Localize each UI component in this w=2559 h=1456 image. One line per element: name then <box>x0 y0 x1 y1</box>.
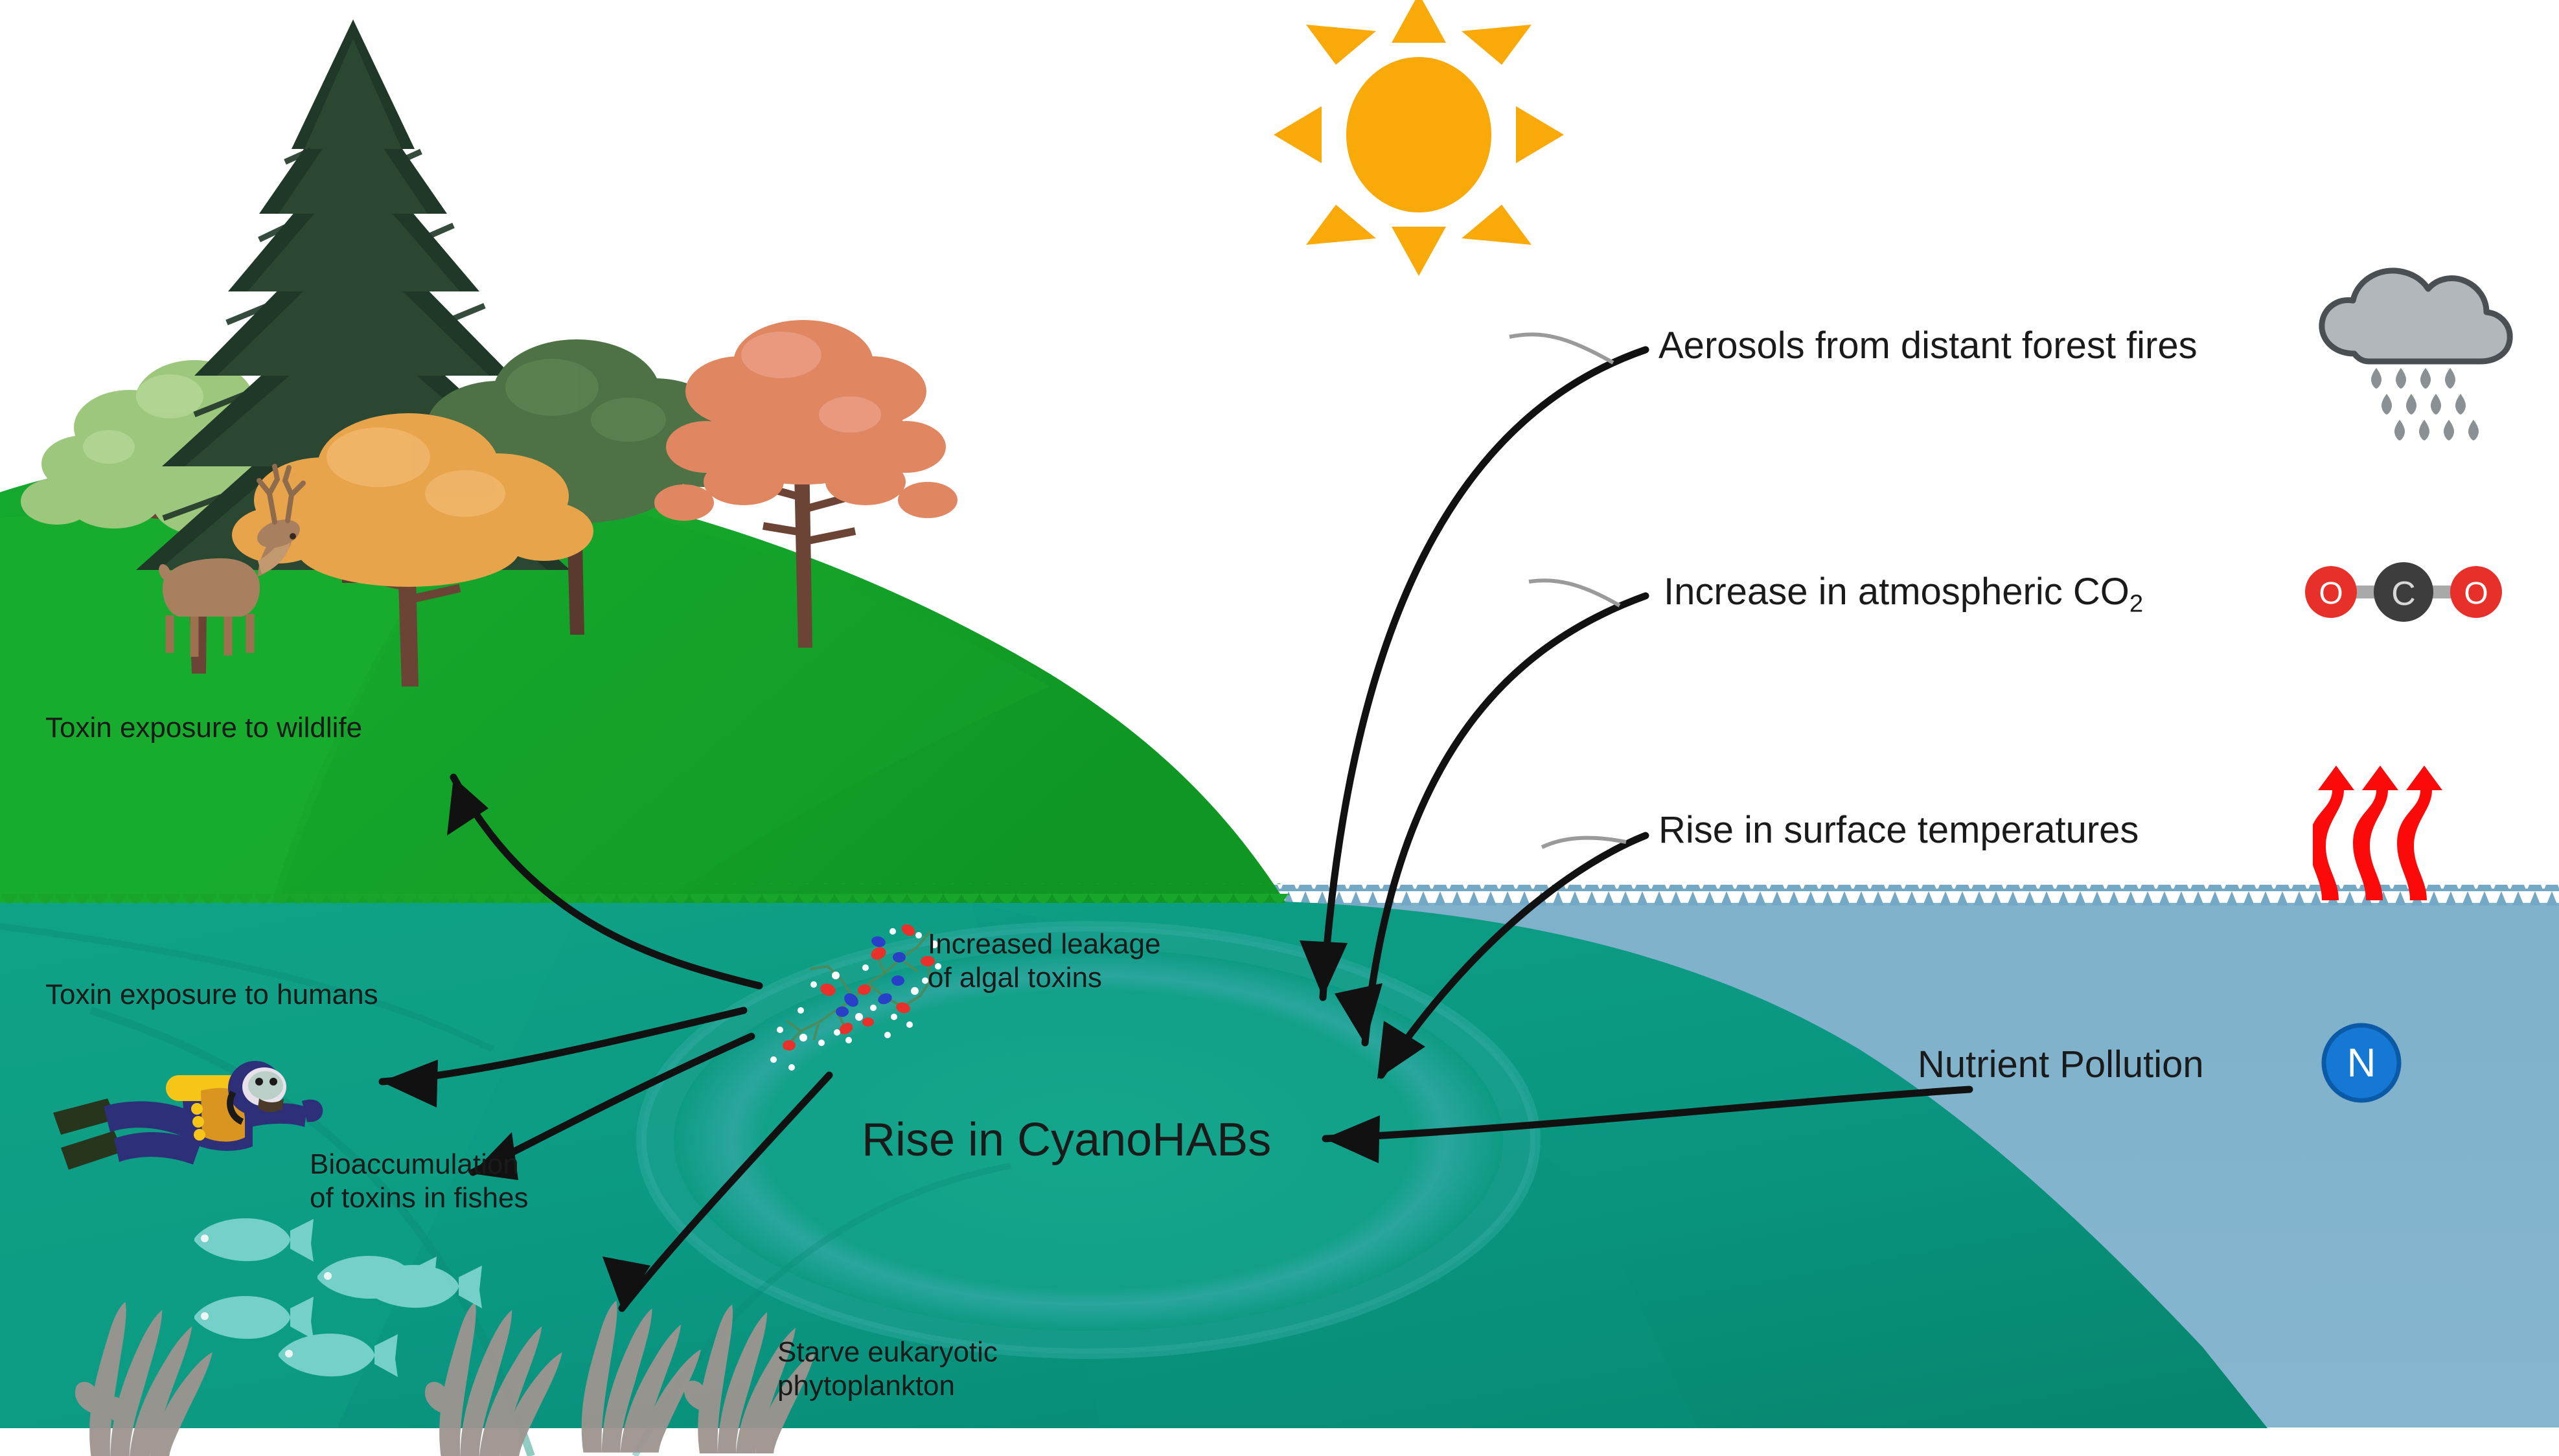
co2-molecule-icon: O C O <box>2301 549 2506 635</box>
effect-label-leakage-line2: of algal toxins <box>928 962 1102 994</box>
effect-label-bioaccumulation-line1: Bioaccumulation <box>310 1148 519 1180</box>
effect-label-wildlife: Toxin exposure to wildlife <box>45 711 362 745</box>
scene-background <box>0 0 2559 1456</box>
label-leader-lines <box>1509 334 1626 847</box>
shoreline-scallop <box>0 883 1289 904</box>
leader-aerosols <box>1509 334 1613 363</box>
sun-icon <box>1274 0 1564 276</box>
carbon-atom-label: C <box>2391 575 2416 613</box>
effect-label-phytoplankton-line2: phytoplankton <box>777 1370 955 1402</box>
effect-label-phytoplankton-line1: Starve eukaryotic <box>777 1336 998 1368</box>
rain-cloud-icon <box>2306 259 2527 473</box>
driver-label-nutrients: Nutrient Pollution <box>1918 1043 2204 1087</box>
oxygen-atom-right-label: O <box>2464 576 2488 611</box>
effect-label-humans: Toxin exposure to humans <box>45 978 378 1012</box>
driver-label-co2: Increase in atmospheric CO2 <box>1664 570 2143 619</box>
diagram-canvas: O C O N Aerosols from distant forest fir… <box>0 0 2559 1456</box>
effect-label-bioaccumulation: Bioaccumulation of toxins in fishes <box>310 1148 647 1215</box>
heat-waves-icon <box>2313 764 2468 907</box>
effect-label-leakage-line1: Increased leakage <box>928 928 1161 960</box>
driver-label-aerosols: Aerosols from distant forest fires <box>1658 324 2198 368</box>
leader-co2 <box>1529 580 1620 606</box>
driver-label-co2-subscript: 2 <box>2129 589 2143 617</box>
effect-label-leakage: Increased leakage of algal toxins <box>928 927 1265 995</box>
driver-label-temperature: Rise in surface temperatures <box>1658 808 2139 852</box>
effect-label-phytoplankton: Starve eukaryotic phytoplankton <box>777 1336 1114 1403</box>
nitrogen-symbol-label: N <box>2347 1041 2376 1086</box>
effect-label-bioaccumulation-line2: of toxins in fishes <box>310 1182 529 1214</box>
driver-label-co2-text: Increase in atmospheric CO <box>1664 571 2129 613</box>
nitrogen-atom-icon: N <box>2319 1021 2404 1105</box>
leader-temperature <box>1542 838 1626 847</box>
central-node-label: Rise in CyanoHABs <box>862 1113 1271 1168</box>
oxygen-atom-left-label: O <box>2319 576 2343 611</box>
